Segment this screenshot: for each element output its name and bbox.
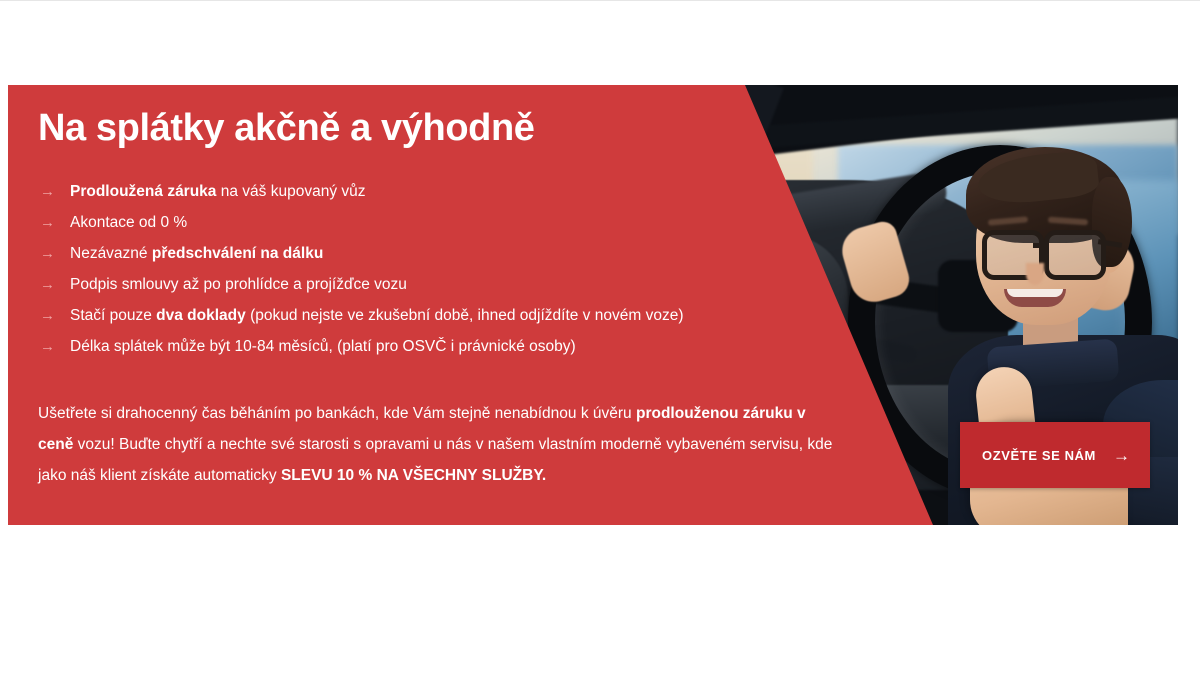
arrow-right-icon: →: [40, 183, 70, 201]
list-item-tail: (pokud nejste ve zkušební době, ihned od…: [246, 307, 684, 324]
list-item: → Akontace od 0 %: [40, 214, 683, 232]
list-item: → Podpis smlouvy až po prohlídce a projí…: [40, 276, 683, 294]
list-item-bold: předschválení na dálku: [152, 245, 323, 262]
paragraph-bold-2: SLEVU 10 % NA VŠECHNY SLUŽBY.: [281, 467, 546, 484]
list-item: → Délka splátek může být 10-84 měsíců, (…: [40, 338, 683, 356]
banner-paragraph: Ušetřete si drahocenný čas běháním po ba…: [38, 398, 838, 491]
contact-us-button[interactable]: OZVĚTE SE NÁM →: [960, 422, 1150, 488]
list-item-label: Podpis smlouvy až po prohlídce a projížď…: [70, 276, 407, 294]
list-item-rest: na váš kupovaný vůz: [216, 183, 365, 200]
list-item-label: Nezávazné předschválení na dálku: [70, 245, 323, 263]
page-title: Na splátky akčně a výhodně: [38, 107, 535, 150]
list-item-label: Akontace od 0 %: [70, 214, 187, 232]
page-root: Na splátky akčně a výhodně → Prodloužená…: [0, 0, 1200, 678]
benefits-list: → Prodloužená záruka na váš kupovaný vůz…: [40, 183, 683, 369]
promo-banner: Na splátky akčně a výhodně → Prodloužená…: [8, 85, 1178, 525]
contact-us-button-label: OZVĚTE SE NÁM: [982, 448, 1096, 463]
list-item-bold: dva doklady: [156, 307, 246, 324]
arrow-right-icon: →: [40, 276, 70, 294]
arrow-right-icon: →: [40, 245, 70, 263]
arrow-right-icon: →: [40, 338, 70, 356]
banner-content: Na splátky akčně a výhodně → Prodloužená…: [8, 85, 1178, 525]
arrow-right-icon: →: [40, 214, 70, 232]
list-item-plain: Nezávazné: [70, 245, 152, 262]
list-item-label: Prodloužená záruka na váš kupovaný vůz: [70, 183, 366, 201]
list-item-label: Stačí pouze dva doklady (pokud nejste ve…: [70, 307, 683, 325]
arrow-right-icon: →: [40, 307, 70, 325]
arrow-right-icon: →: [1113, 447, 1130, 464]
list-item-bold: Prodloužená záruka: [70, 183, 216, 200]
top-divider: [0, 0, 1200, 1]
list-item-plain: Stačí pouze: [70, 307, 156, 324]
list-item-label: Délka splátek může být 10-84 měsíců, (pl…: [70, 338, 576, 356]
list-item: → Prodloužená záruka na váš kupovaný vůz: [40, 183, 683, 201]
list-item: → Nezávazné předschválení na dálku: [40, 245, 683, 263]
paragraph-segment-1: Ušetřete si drahocenný čas běháním po ba…: [38, 405, 636, 422]
list-item: → Stačí pouze dva doklady (pokud nejste …: [40, 307, 683, 325]
